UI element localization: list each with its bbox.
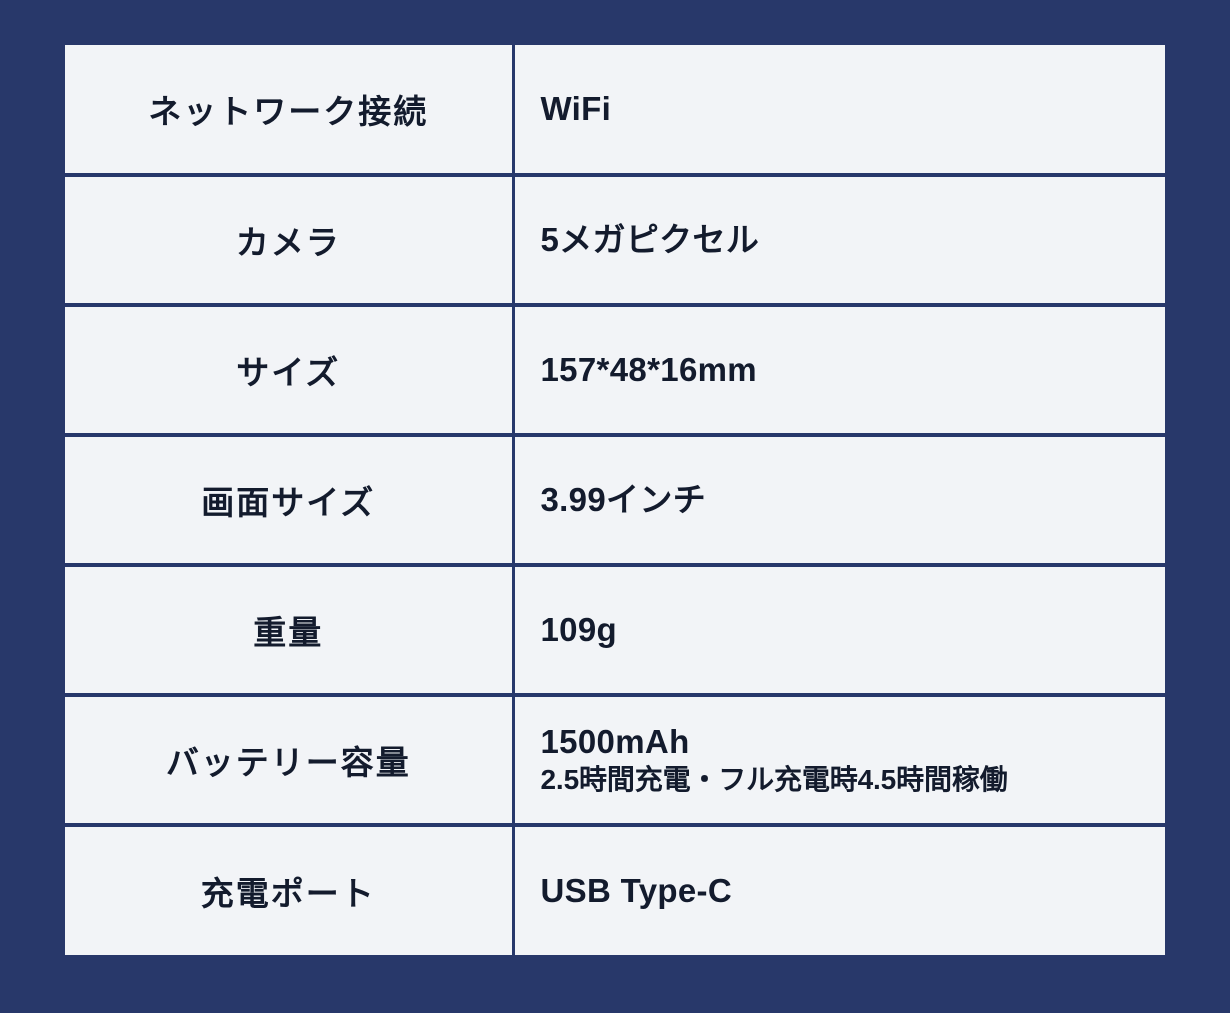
spec-label-text: バッテリー容量 (166, 744, 411, 781)
spec-value-cell: 157*48*16mm (513, 305, 1165, 435)
spec-label-cell: ネットワーク接続 (65, 45, 513, 175)
spec-value-text: 157*48*16mm (541, 351, 1166, 390)
spec-label-text: サイズ (236, 354, 340, 391)
spec-label-text: 重量 (253, 614, 323, 651)
spec-label-cell: 充電ポート (65, 825, 513, 955)
spec-label-text: 充電ポート (201, 875, 376, 912)
spec-value-text: 1500mAh (541, 723, 1166, 762)
spec-label-cell: 画面サイズ (65, 435, 513, 565)
spec-label-cell: カメラ (65, 175, 513, 305)
table-row: サイズ 157*48*16mm (65, 305, 1165, 435)
specification-table-container: ネットワーク接続 WiFi カメラ 5メガピクセル (65, 45, 1165, 955)
spec-value-text: WiFi (541, 90, 1166, 129)
spec-value-subtext: 2.5時間充電・フル充電時4.5時間稼働 (541, 764, 1166, 796)
table-row: 充電ポート USB Type-C (65, 825, 1165, 955)
spec-value-text: 5メガピクセル (541, 221, 1166, 260)
spec-value-cell: 5メガピクセル (513, 175, 1165, 305)
table-row: ネットワーク接続 WiFi (65, 45, 1165, 175)
spec-value-cell: USB Type-C (513, 825, 1165, 955)
spec-value-cell: 1500mAh 2.5時間充電・フル充電時4.5時間稼働 (513, 695, 1165, 825)
spec-value-cell: 3.99インチ (513, 435, 1165, 565)
table-row: バッテリー容量 1500mAh 2.5時間充電・フル充電時4.5時間稼働 (65, 695, 1165, 825)
spec-value-cell: 109g (513, 565, 1165, 695)
spec-label-cell: サイズ (65, 305, 513, 435)
spec-label-cell: バッテリー容量 (65, 695, 513, 825)
table-row: 画面サイズ 3.99インチ (65, 435, 1165, 565)
spec-value-cell: WiFi (513, 45, 1165, 175)
spec-label-cell: 重量 (65, 565, 513, 695)
spec-label-text: カメラ (236, 224, 341, 261)
spec-value-text: 3.99インチ (541, 481, 1166, 520)
spec-label-text: ネットワーク接続 (148, 93, 428, 130)
spec-label-text: 画面サイズ (201, 484, 375, 521)
page-root: ネットワーク接続 WiFi カメラ 5メガピクセル (0, 0, 1230, 1013)
spec-value-text: USB Type-C (541, 872, 1166, 911)
specification-table: ネットワーク接続 WiFi カメラ 5メガピクセル (65, 45, 1165, 955)
spec-value-text: 109g (541, 611, 1166, 650)
specification-table-body: ネットワーク接続 WiFi カメラ 5メガピクセル (65, 45, 1165, 955)
table-row: 重量 109g (65, 565, 1165, 695)
table-row: カメラ 5メガピクセル (65, 175, 1165, 305)
